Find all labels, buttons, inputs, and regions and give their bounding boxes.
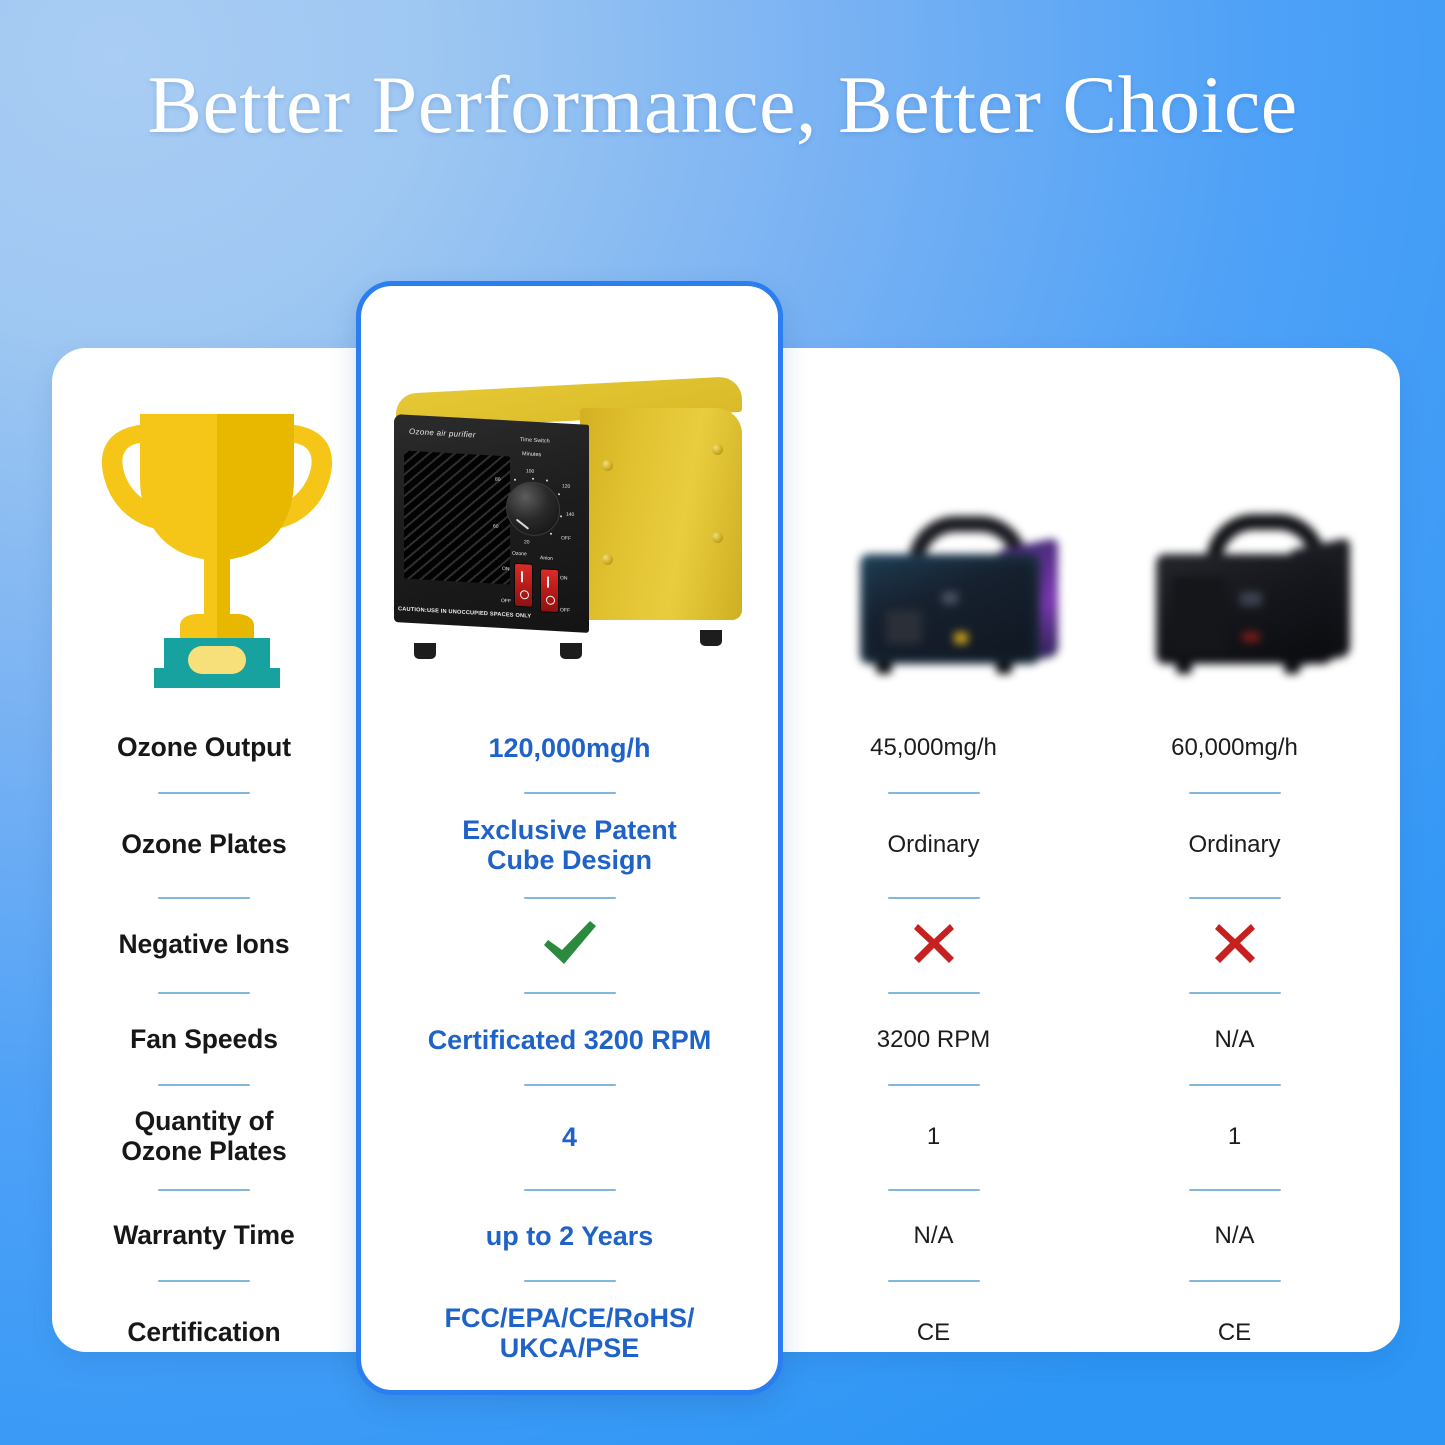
divider-cell-label <box>52 1066 356 1104</box>
trophy-svg <box>92 396 342 696</box>
page-title: Better Performance, Better Choice <box>0 62 1445 148</box>
screw-bl <box>602 554 613 565</box>
feature-label-6: Certification <box>52 1300 356 1366</box>
row-divider <box>888 1084 980 1087</box>
row-divider <box>158 792 250 795</box>
competitor1-value-6: CE <box>783 1300 1084 1366</box>
comp1-detail-knob <box>886 610 922 644</box>
dial-value-80: 80 <box>495 477 501 483</box>
competitor1-value-text: Ordinary <box>887 832 979 859</box>
table-row: Certification FCC/EPA/CE/RoHS/ UKCA/PSE … <box>52 1300 1400 1366</box>
feature-label-text: Ozone Plates <box>121 830 286 860</box>
comp2-detail-display <box>1240 592 1262 606</box>
competitor-2-illustration <box>1148 492 1363 692</box>
divider-cell-comp1 <box>783 878 1084 918</box>
divider-cell-comp1 <box>783 1170 1084 1210</box>
dial-tick-1 <box>532 478 534 480</box>
divider-row-1 <box>52 878 1400 918</box>
competitor1-value-2 <box>783 918 1084 972</box>
featured-value-4: 4 <box>356 1104 783 1170</box>
comp1-detail-led <box>954 632 968 644</box>
row-divider <box>1189 992 1281 995</box>
cross-mark-icon <box>911 920 957 971</box>
minutes-label: Minutes <box>522 451 541 458</box>
row-divider <box>1189 1280 1281 1283</box>
dial-tick-5 <box>550 533 552 535</box>
row-divider <box>888 992 980 995</box>
divider-cell-comp2 <box>1084 1262 1385 1300</box>
competitor2-value-text: 1 <box>1228 1124 1241 1151</box>
row-divider <box>158 1280 250 1283</box>
divider-cell-comp2 <box>1084 972 1385 1014</box>
row-divider <box>524 1280 616 1283</box>
divider-cell-comp2 <box>1084 1066 1385 1104</box>
anion-off-label: OFF <box>560 607 570 614</box>
row-divider <box>888 792 980 795</box>
featured-value-0: 120,000mg/h <box>356 722 783 774</box>
row-divider <box>1189 1189 1281 1192</box>
comp2-foot-left <box>1176 662 1192 674</box>
featured-value-6: FCC/EPA/CE/RoHS/ UKCA/PSE <box>356 1300 783 1366</box>
competitor2-value-text: N/A <box>1214 1027 1254 1054</box>
foot-mid <box>560 643 582 659</box>
row-divider <box>158 1084 250 1087</box>
competitor2-value-6: CE <box>1084 1300 1385 1366</box>
featured-value-text: 120,000mg/h <box>488 733 650 763</box>
table-row: Quantity of Ozone Plates 4 1 1 <box>52 1104 1400 1170</box>
dial-value-off: OFF <box>561 535 571 542</box>
comp1-body <box>860 554 1040 664</box>
dial-tick-3 <box>558 493 560 495</box>
divider-cell-label <box>52 1262 356 1300</box>
competitor2-value-text: Ordinary <box>1188 832 1280 859</box>
dial-value-120: 120 <box>562 483 570 489</box>
comparison-grid: Ozone Output 120,000mg/h 45,000mg/h 60,0… <box>52 722 1400 1366</box>
competitor2-value-0: 60,000mg/h <box>1084 722 1385 774</box>
foot-left <box>414 643 436 659</box>
competitor2-value-text: N/A <box>1214 1223 1254 1250</box>
competitor2-value-1: Ordinary <box>1084 812 1385 878</box>
table-row: Ozone Output 120,000mg/h 45,000mg/h 60,0… <box>52 722 1400 774</box>
caution-label: CAUTION:USE IN UNOCCUPIED SPACES ONLY <box>398 606 531 619</box>
featured-value-text: Exclusive Patent Cube Design <box>462 815 677 875</box>
table-row: Warranty Time up to 2 Years N/A N/A <box>52 1210 1400 1262</box>
air-grille <box>404 451 510 585</box>
ozone-rocker-switch[interactable] <box>514 563 533 608</box>
feature-label-2: Negative Ions <box>52 918 356 972</box>
divider-cell-featured <box>356 1262 783 1300</box>
row-divider <box>1189 897 1281 900</box>
competitor-2-image <box>1148 492 1363 692</box>
divider-row-3 <box>52 1066 1400 1104</box>
comp2-foot-right <box>1284 662 1300 674</box>
competitor1-value-1: Ordinary <box>783 812 1084 878</box>
featured-product-image: Ozone air purifier Time Switch Minutes 1… <box>378 300 763 690</box>
featured-value-text: Certificated 3200 RPM <box>428 1025 712 1055</box>
competitor1-value-text: 1 <box>927 1124 940 1151</box>
infographic-page: Better Performance, Better Choice <box>0 0 1445 1445</box>
featured-value-text: up to 2 Years <box>486 1221 654 1251</box>
competitor1-value-text: N/A <box>913 1223 953 1250</box>
feature-label-0: Ozone Output <box>52 722 356 774</box>
divider-cell-comp2 <box>1084 1170 1385 1210</box>
competitor-1-image <box>846 492 1076 692</box>
table-row: Fan Speeds Certificated 3200 RPM 3200 RP… <box>52 1014 1400 1066</box>
competitor2-value-text: CE <box>1218 1320 1251 1347</box>
dial-tick-6 <box>514 479 516 481</box>
table-row: Ozone Plates Exclusive Patent Cube Desig… <box>52 812 1400 878</box>
cross-icon-svg <box>1212 920 1258 966</box>
brand-label: Ozone air purifier <box>409 427 476 440</box>
competitor1-value-0: 45,000mg/h <box>783 722 1084 774</box>
divider-cell-featured <box>356 972 783 1014</box>
divider-cell-label <box>52 1170 356 1210</box>
dial-value-20: 20 <box>524 539 530 545</box>
featured-value-text: 4 <box>562 1122 577 1152</box>
divider-cell-featured <box>356 878 783 918</box>
row-divider <box>158 1189 250 1192</box>
timer-dial[interactable] <box>506 480 560 537</box>
competitor2-value-4: 1 <box>1084 1104 1385 1170</box>
ozone-generator-illustration: Ozone air purifier Time Switch Minutes 1… <box>388 388 748 646</box>
divider-cell-comp1 <box>783 972 1084 1014</box>
time-switch-label: Time Switch <box>520 437 550 445</box>
divider-row-2 <box>52 972 1400 1014</box>
featured-value-5: up to 2 Years <box>356 1210 783 1262</box>
divider-cell-featured <box>356 1170 783 1210</box>
competitor1-value-text: 3200 RPM <box>877 1027 990 1054</box>
table-row: Negative Ions <box>52 918 1400 972</box>
ozone-off-label: OFF <box>501 598 511 605</box>
row-divider <box>158 897 250 900</box>
competitor1-value-5: N/A <box>783 1210 1084 1262</box>
cross-mark-icon <box>1212 920 1258 971</box>
row-divider <box>524 992 616 995</box>
divider-cell-label <box>52 774 356 812</box>
feature-label-1: Ozone Plates <box>52 812 356 878</box>
competitor-1-illustration <box>846 492 1076 692</box>
dial-tick-2 <box>546 479 548 481</box>
row-divider <box>888 1280 980 1283</box>
featured-value-1: Exclusive Patent Cube Design <box>356 812 783 878</box>
divider-cell-label <box>52 972 356 1014</box>
competitor1-value-text: 45,000mg/h <box>870 735 997 762</box>
divider-cell-label <box>52 878 356 918</box>
screw-br <box>712 532 723 543</box>
competitor2-value-5: N/A <box>1084 1210 1385 1262</box>
feature-label-text: Fan Speeds <box>130 1025 278 1055</box>
competitor2-value-2 <box>1084 918 1385 972</box>
divider-row-0 <box>52 774 1400 812</box>
comp2-grille <box>1172 576 1226 656</box>
feature-label-text: Warranty Time <box>113 1221 294 1251</box>
anion-switch-label: Anion <box>540 555 553 562</box>
front-control-panel: Ozone air purifier Time Switch Minutes 1… <box>394 414 589 633</box>
trophy-icon <box>92 396 342 696</box>
anion-rocker-switch[interactable] <box>540 568 559 613</box>
competitor1-value-text: CE <box>917 1320 950 1347</box>
anion-on-label: ON <box>560 575 568 581</box>
competitor1-value-3: 3200 RPM <box>783 1014 1084 1066</box>
feature-label-text: Certification <box>127 1318 280 1348</box>
ozone-on-label: ON <box>502 566 510 572</box>
comp1-detail-display <box>942 592 958 604</box>
competitor2-value-text: 60,000mg/h <box>1171 735 1298 762</box>
chassis-right <box>580 408 742 620</box>
feature-label-text: Negative Ions <box>118 930 289 960</box>
check-icon-svg <box>539 919 601 967</box>
dial-tick-4 <box>560 515 562 517</box>
feature-label-4: Quantity of Ozone Plates <box>52 1104 356 1170</box>
divider-cell-comp1 <box>783 774 1084 812</box>
row-divider <box>158 992 250 995</box>
row-divider <box>524 1189 616 1192</box>
row-divider <box>524 792 616 795</box>
featured-value-2 <box>356 918 783 972</box>
row-divider <box>524 897 616 900</box>
ozone-switch-label: Ozone <box>512 551 527 558</box>
foot-right <box>700 630 722 646</box>
feature-label-5: Warranty Time <box>52 1210 356 1262</box>
row-divider <box>888 897 980 900</box>
row-divider <box>888 1189 980 1192</box>
divider-cell-comp1 <box>783 1262 1084 1300</box>
cross-icon-svg <box>911 920 957 966</box>
divider-cell-comp2 <box>1084 878 1385 918</box>
divider-row-4 <box>52 1170 1400 1210</box>
divider-cell-featured <box>356 1066 783 1104</box>
featured-value-text: FCC/EPA/CE/RoHS/ UKCA/PSE <box>444 1303 694 1363</box>
comp1-foot-right <box>996 662 1012 674</box>
row-divider <box>1189 792 1281 795</box>
feature-label-3: Fan Speeds <box>52 1014 356 1066</box>
row-divider <box>524 1084 616 1087</box>
screw-tl <box>602 460 613 471</box>
dial-value-100: 100 <box>526 468 534 474</box>
comp1-foot-left <box>876 662 892 674</box>
feature-label-text: Quantity of Ozone Plates <box>121 1107 286 1166</box>
divider-cell-featured <box>356 774 783 812</box>
divider-cell-comp2 <box>1084 774 1385 812</box>
dial-value-140: 140 <box>566 512 574 518</box>
check-mark-icon <box>539 919 601 972</box>
row-divider <box>1189 1084 1281 1087</box>
screw-tr <box>712 444 723 455</box>
competitor2-value-3: N/A <box>1084 1014 1385 1066</box>
dial-value-60: 60 <box>493 524 499 530</box>
divider-row-5 <box>52 1262 1400 1300</box>
featured-value-3: Certificated 3200 RPM <box>356 1014 783 1066</box>
divider-cell-comp1 <box>783 1066 1084 1104</box>
comp2-detail-switch <box>1242 632 1260 642</box>
competitor1-value-4: 1 <box>783 1104 1084 1170</box>
feature-label-text: Ozone Output <box>117 733 291 763</box>
